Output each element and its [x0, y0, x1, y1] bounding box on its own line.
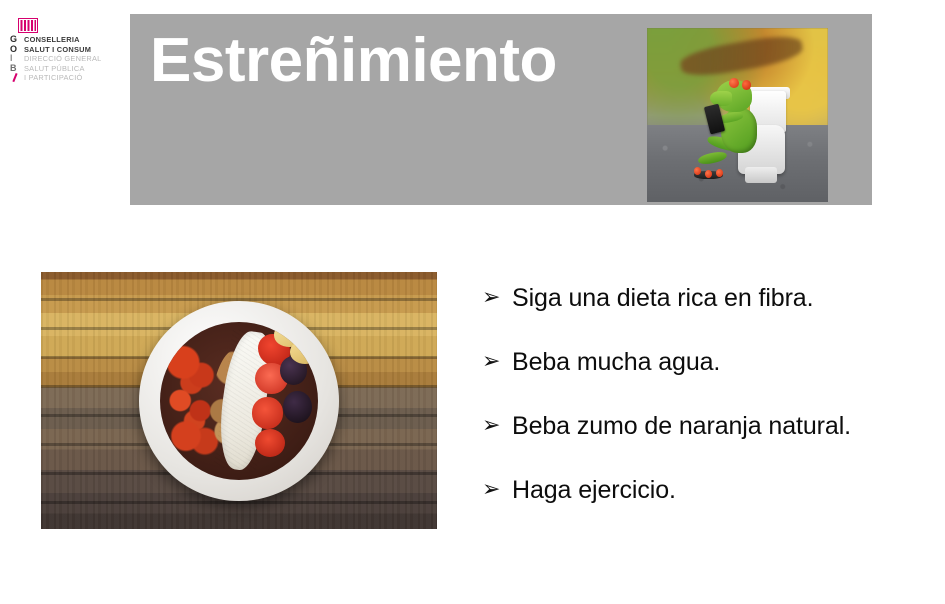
logo-text-block: G O I B CONSELLERIA SALUT I CONSUM DIREC… — [10, 35, 102, 83]
logo-department-lines: CONSELLERIA SALUT I CONSUM DIRECCIÓ GENE… — [24, 35, 102, 83]
bowl-contents — [160, 322, 318, 480]
fiber-smoothie-bowl-photo — [41, 272, 437, 529]
slide-canvas: G O I B CONSELLERIA SALUT I CONSUM DIREC… — [0, 0, 945, 604]
frog-toe — [705, 170, 712, 178]
goib-initials: G O I B — [10, 35, 19, 83]
balearic-islands-crest-icon — [18, 18, 38, 33]
logo-line-4: SALUT PÚBLICA — [24, 64, 102, 74]
logo-line-2: SALUT I CONSUM — [24, 45, 102, 55]
list-item: ➢ Siga una dieta rica en fibra. — [482, 282, 912, 314]
banana-slice — [290, 340, 318, 364]
list-item-label: Beba mucha agua. — [512, 346, 720, 378]
goib-logo: G O I B CONSELLERIA SALUT I CONSUM DIREC… — [10, 18, 122, 84]
logo-line-1: CONSELLERIA — [24, 35, 102, 45]
list-item-label: Haga ejercicio. — [512, 474, 676, 506]
frog-toe — [716, 169, 723, 177]
strawberry-slice — [255, 429, 285, 457]
list-item-label: Siga una dieta rica en fibra. — [512, 282, 813, 314]
goib-slash-icon — [10, 73, 19, 82]
list-item: ➢ Beba mucha agua. — [482, 346, 912, 378]
arrow-bullet-icon: ➢ — [482, 474, 512, 506]
arrow-bullet-icon: ➢ — [482, 410, 512, 442]
list-item: ➢ Haga ejercicio. — [482, 474, 912, 506]
page-title: Estreñimiento — [150, 28, 557, 93]
list-item: ➢ Beba zumo de naranja natural. — [482, 410, 912, 442]
blackberry — [283, 391, 311, 423]
toilet-base — [745, 167, 778, 183]
goib-letter-b: B — [10, 64, 17, 74]
frog-eye-right — [742, 80, 751, 90]
logo-line-5: I PARTICIPACIÓ — [24, 73, 102, 83]
list-item-label: Beba zumo de naranja natural. — [512, 410, 851, 442]
arrow-bullet-icon: ➢ — [482, 282, 512, 314]
header-banner: Estreñimiento — [130, 14, 872, 205]
logo-line-3: DIRECCIÓ GENERAL — [24, 54, 102, 64]
arrow-bullet-icon: ➢ — [482, 346, 512, 378]
white-bowl — [139, 301, 339, 501]
strawberry-slice — [252, 397, 284, 429]
advice-bullet-list: ➢ Siga una dieta rica en fibra. ➢ Beba m… — [482, 282, 912, 538]
frog-on-toilet-photo — [647, 28, 828, 202]
